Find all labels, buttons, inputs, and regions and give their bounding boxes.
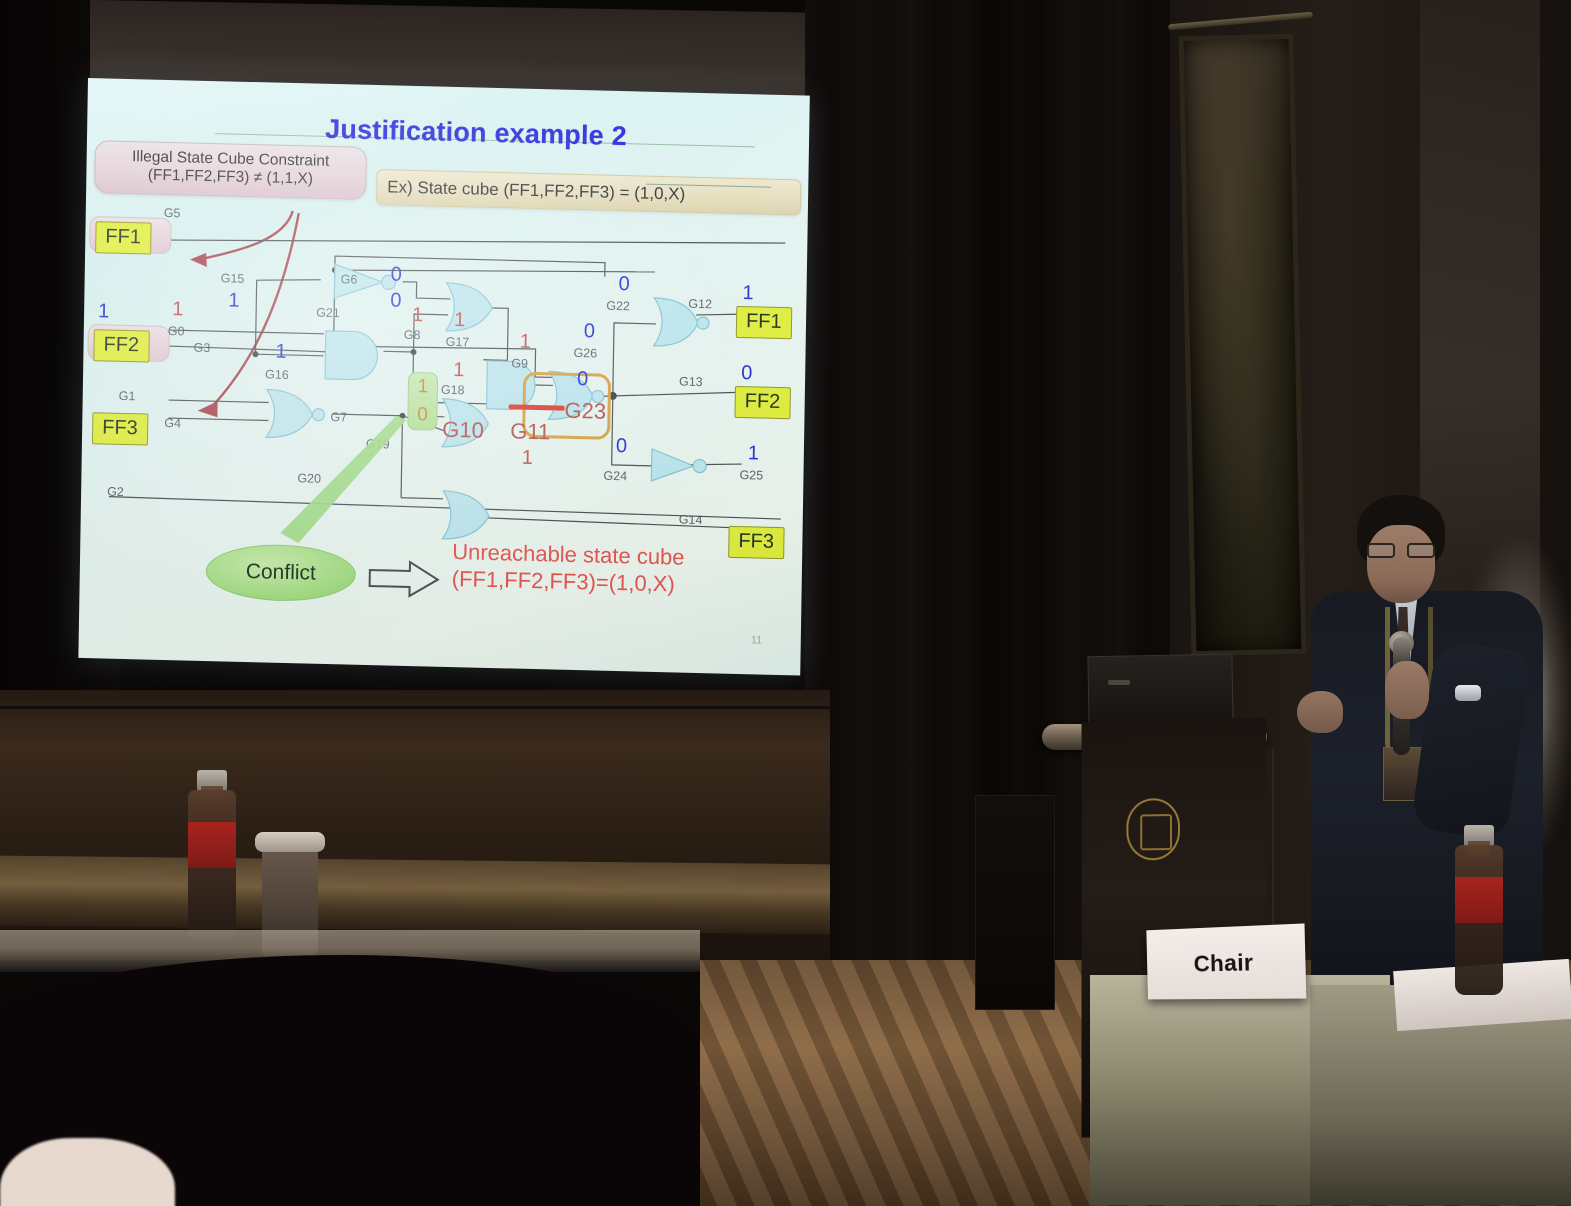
net-label-g15: G15 <box>221 271 245 286</box>
value-g15: 1 <box>228 289 240 312</box>
net-label-g14: G14 <box>679 513 703 528</box>
conflict-value-box: 1 0 <box>407 372 438 431</box>
bottle-body <box>188 790 236 940</box>
gate-and-g16 <box>319 328 390 384</box>
chair-name-card: Chair <box>1146 923 1306 999</box>
gate-or-g17 <box>442 279 499 336</box>
panel-divider <box>0 706 830 709</box>
net-label-g6: G6 <box>341 272 358 286</box>
speaker-cabinet <box>975 795 1055 1010</box>
presenter-hand-holding-mic <box>1385 661 1429 719</box>
net-label-g21: G21 <box>316 306 340 321</box>
conference-room-scene: Justification example 2 Illegal State Cu… <box>0 0 1571 1206</box>
value-g25: 1 <box>748 442 760 465</box>
laptop[interactable] <box>1087 654 1233 729</box>
net-label-g18: G18 <box>441 383 465 398</box>
presenter <box>1305 495 1555 1035</box>
net-label-g25: G25 <box>739 468 763 483</box>
value-g22: 0 <box>618 273 630 296</box>
net-label-g24: G24 <box>603 469 627 484</box>
conclusion-line-2: (FF1,FF2,FF3)=(1,0,X) <box>452 566 685 599</box>
wristwatch <box>1455 685 1481 701</box>
net-label-g11: G11 <box>510 418 550 445</box>
bottle-label-right <box>1455 877 1503 923</box>
value-g17: 1 <box>454 309 466 332</box>
conflict-text: Conflict <box>246 560 316 586</box>
net-label-g13: G13 <box>679 375 703 390</box>
slide-surface: Justification example 2 Illegal State Cu… <box>78 78 809 676</box>
conflict-value-0: 0 <box>408 401 436 430</box>
gate-or-bottom <box>438 487 495 544</box>
glasses-icon <box>1367 543 1437 559</box>
net-label-g8: G8 <box>404 328 421 342</box>
value-g8: 1 <box>412 304 424 327</box>
presenter-face <box>1367 525 1435 603</box>
gate-inverter-g24 <box>647 446 714 486</box>
net-label-g22: G22 <box>606 299 630 314</box>
net-label-g26: G26 <box>573 346 597 361</box>
conflict-pointer <box>276 413 410 556</box>
value-g26: 0 <box>584 320 596 343</box>
wall-tapestry <box>1179 34 1307 656</box>
value-g21: 0 <box>390 289 402 312</box>
paper-cup-lid <box>255 832 325 852</box>
value-g11: 1 <box>522 447 534 470</box>
implies-arrow-icon <box>367 559 440 599</box>
net-label-g9: G9 <box>511 356 528 370</box>
value-ff2-out: 0 <box>741 362 753 385</box>
value-g24: 0 <box>616 435 628 458</box>
conclusion-text: Unreachable state cube (FF1,FF2,FF3)=(1,… <box>452 539 685 598</box>
net-label-g10: G10 <box>442 417 484 444</box>
ff1-output-box: FF1 <box>736 306 792 339</box>
net-label-g16: G16 <box>265 367 289 382</box>
value-g9: 1 <box>519 331 531 354</box>
projection-screen: Justification example 2 Illegal State Cu… <box>78 78 809 676</box>
stage-panel-trim <box>0 856 830 935</box>
value-ff1-out: 1 <box>742 282 754 305</box>
presenter-left-hand <box>1297 691 1343 733</box>
net-label-g17: G17 <box>446 335 470 350</box>
slide-number: 11 <box>751 634 763 646</box>
ff3-output-box: FF3 <box>728 526 784 559</box>
laptop-logo <box>1108 680 1130 685</box>
conflict-value-1: 1 <box>409 373 437 402</box>
ff2-output-box: FF2 <box>734 386 790 419</box>
net-label-g12: G12 <box>688 297 712 312</box>
bottle-body-right <box>1455 845 1503 995</box>
value-g6: 0 <box>391 263 403 286</box>
podium-emblem-icon <box>1126 798 1180 861</box>
chair-name-card-text: Chair <box>1193 949 1253 977</box>
net-label-g23: G23 <box>564 398 606 425</box>
value-g16: 1 <box>275 341 287 364</box>
value-g23: 0 <box>577 368 589 391</box>
bottle-label <box>188 822 236 868</box>
value-g18: 1 <box>453 359 465 382</box>
